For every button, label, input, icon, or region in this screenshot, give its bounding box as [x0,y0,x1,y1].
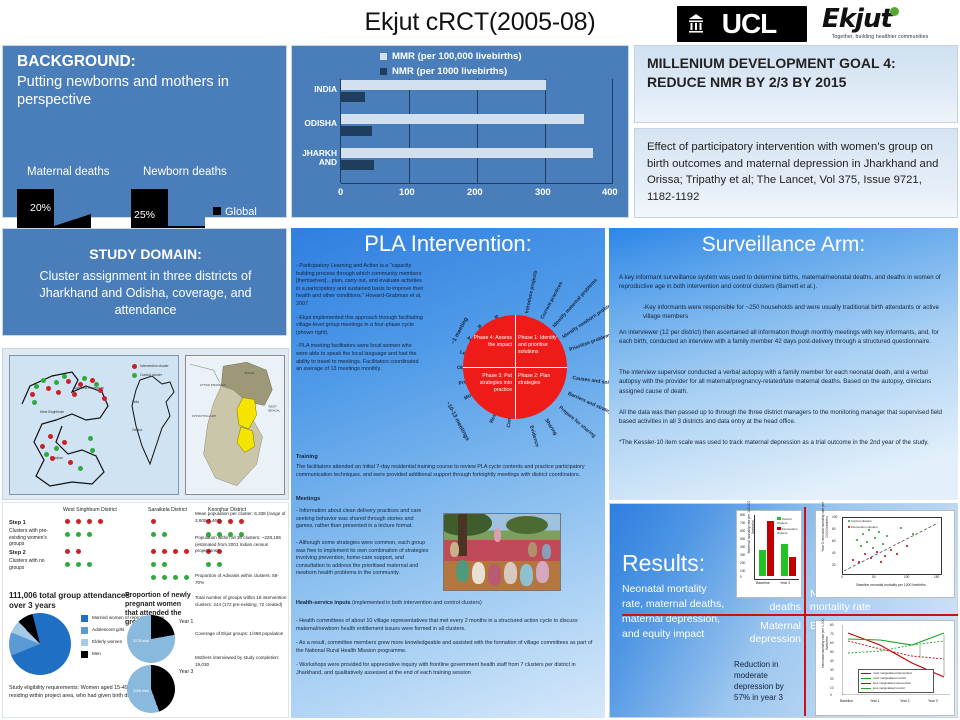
bar-nmr-jharkhand [341,160,374,170]
study-domain-heading: STUDY DOMAIN: [3,246,288,262]
mini-bar-ytick-300: 300 [740,553,745,557]
legend-swatch-nmr [380,68,387,75]
ucl-logo-text: UCL [677,6,807,42]
equity-ytick-20: 20 [830,677,834,681]
bar-year3-control [781,544,788,576]
pla-phase-2: Phase 2: Plan strategies [518,373,564,387]
newborn-deaths-pie-label: Newborn deaths [143,166,227,178]
results-panel: Results: Neonatal mortality rate, matern… [609,503,958,718]
map-legend-intervention: Intervention cluster [140,364,169,368]
bar-cat-india: INDIA [293,85,337,94]
equity-ytick-50: 50 [830,650,834,654]
map-legend-control: Control cluster [140,373,162,377]
pla-meetings-item-1: - Information about clean delivery pract… [296,508,431,531]
india-inset-outline [128,372,178,472]
equity-ytick-10: 10 [830,686,834,690]
mini-bar-ytick-400: 400 [740,545,745,549]
bar-mmr-odisha [341,114,584,124]
pla-training-heading: Training [296,454,318,460]
step-2-desc: Clusters with no groups [9,558,61,571]
mini-bar-ytick-500: 500 [740,537,745,541]
pla-paragraph-2: - Ekjut implemented this approach throug… [296,315,424,338]
pla-phase-4: Phase 4: Assess the impact [466,335,512,349]
scatter-ytick-20: 20 [832,563,836,567]
equity-ytick-70: 70 [830,632,834,636]
equity-xtick-year3: Year 3 [928,699,938,703]
scatter-xtick-100: 100 [904,575,909,579]
bar-nmr-odisha [341,126,372,136]
surveillance-paragraph-3: An interviewer (12 per district) then as… [619,328,949,347]
maternal-deaths-bar-chart: Maternal mortality rate per 100,000 live… [736,510,802,598]
cluster-stat-0: Mean population per cluster: 6,338 (rang… [195,511,287,524]
mini-bar-ytick-200: 200 [740,561,745,565]
pie-legend-adolescent-girls: Adolescent girls [92,627,124,633]
pla-hs-heading-bold: Health-service inputs [296,600,351,606]
citation-text: Effect of participatory intervention wit… [647,139,949,205]
bar-nmr-india [341,92,365,102]
mini-bar-ytick-600: 600 [740,529,745,533]
maternal-deaths-pie-label: Maternal deaths [27,166,109,178]
ekjut-leaf-icon [890,7,899,16]
mdg-panel: MILLENIUM DEVELOPMENT GOAL 4: REDUCE NMR… [634,45,958,123]
inset-label-india: India [132,400,139,404]
results-horizontal-divider [622,614,958,616]
mdg-text: MILLENIUM DEVELOPMENT GOAL 4: REDUCE NMR… [647,54,947,92]
attendance-heading: 111,006 total group attendances over 3 y… [9,591,134,611]
col-header-west-singhbum: West Singhbum District [63,507,117,513]
spoke-0: Introduce projects [524,270,539,314]
bar-chart-legend: MMR (per 100,000 livebirths) NMR (per 10… [380,51,522,81]
pla-phase-circle: Phase 4: Assess the impact Phase 1: Iden… [463,315,567,419]
maternal-deaths-pie-value: 20% [30,202,51,214]
legend-label-nmr: NMR (per 1000 livebirths) [392,66,507,77]
bar-cat-odisha: ODISHA [293,119,337,128]
inset-label-odisha: Odisha [132,428,142,432]
bar-mmr-jharkhand [341,148,593,158]
pla-hs-item-1: - Health committees of about 10 village … [296,618,596,633]
scatter-xtick-0: 0 [841,575,843,579]
spoke-8: Sharing [543,418,558,437]
svg-text:BIHAR: BIHAR [245,371,255,375]
spoke-7: Prepare for sharing [558,405,597,439]
cluster-district-map: India Odisha West Singhbhum Saraikela Kh… [9,355,179,495]
pla-cycle-wheel: Introduce projects Current practices Ide… [431,283,599,451]
pla-phase-3: Phase 3: Put strategies into practice [466,373,512,394]
xtick-0: 0 [338,186,343,197]
study-domain-panel: STUDY DOMAIN: Cluster assignment in thre… [2,228,287,336]
equity-legend-2: less marginalised intervention [873,681,911,685]
equity-legend-1: most marginalised control [873,676,906,680]
mini-bar-ytick-0: 0 [740,575,742,579]
scatter-ytick-60: 60 [832,539,836,543]
equity-ytick-0: 0 [830,693,832,697]
spoke-4: Prioritise problems [568,332,613,353]
surveillance-arm-panel: Surveillance Arm: A key informant survei… [609,228,958,500]
pla-training-text: The facilitators attended an initial 7-d… [296,464,596,479]
equity-legend-0: most marginalised intervention [873,671,912,675]
svg-text:UTTAR PRADESH: UTTAR PRADESH [200,383,226,387]
ekjut-logo-word: Ekjut [822,4,938,34]
pla-hs-item-2: - As a result, committee members grew mo… [296,640,596,655]
mini-bar-ylabel: Maternal mortality rate per 100,000 live… [747,498,755,556]
pie-legend-men: Men [92,651,101,657]
scatter-ytick-40: 40 [832,551,836,555]
scatter-legend-control: Control clusters [851,519,872,523]
bar-baseline-control [759,550,766,576]
legend-label-global: Global [225,206,257,218]
step-1-title: Step 1 [9,520,26,526]
equity-ylabel: Neonatal mortality rate per 1,000 livebi… [821,612,829,674]
attendance-pie-chart [9,613,71,675]
meeting-label-3: ~10-13 meetings [444,401,470,442]
equity-legend-3: less marginalised control [873,686,905,690]
pregnant-pie-year3-value: 3126 total [133,689,149,693]
ekjut-logo-tagline: Together, building healthier communities [820,34,940,40]
cluster-stat-1: Population within all 36 clusters: ~228,… [195,535,287,555]
pla-phase-1: Phase 1: Identify and prioritise solutio… [518,335,564,356]
bar-chart-plot-area: INDIA ODISHA JHARKHAND 0 100 200 300 400 [340,79,613,183]
mini-bar-legend-intervention: Intervention clusters [777,527,798,535]
page-title: Ekjut cRCT(2005-08) [280,2,680,42]
spoke-9: Evidence [528,425,540,448]
scatter-xtick-150: 150 [934,575,939,579]
equity-xtick-year2: Year 2 [900,699,910,703]
pla-body-column: - Participatory Learning and Action is a… [296,263,424,380]
xtick-100: 100 [399,186,415,197]
step-2-title: Step 2 [9,550,26,556]
pla-intervention-panel: PLA Intervention: - Participatory Learni… [291,228,605,718]
legend-label-mmr: MMR (per 100,000 livebirths) [392,51,522,62]
col-header-saraikela: Saraikela District [148,507,187,513]
pregnant-pie-year1-value: 3178 total [133,639,149,643]
legend-swatch-global [213,207,221,215]
equity-ytick-80: 80 [830,623,834,627]
mini-bar-ytick-800: 800 [740,513,745,517]
pla-health-service-heading: Health-service inputs (implemented in bo… [296,600,596,606]
ekjut-logo: Ekjut Together, building healthier commu… [820,4,940,46]
pregnant-pie-year3-label: Year 3 [179,669,193,675]
pie-legend-elderly-women: Elderly women [92,639,122,645]
pla-hs-item-3: - Workshops were provided for appreciati… [296,662,596,677]
xtick-400: 400 [602,186,618,197]
pla-heading: PLA Intervention: [291,231,605,257]
results-subtext: Neonatal mortality rate, maternal deaths… [622,582,726,642]
quadrant-label-maternal-depression: Maternal depression [728,620,801,646]
scatter-ytick-100: 100 [832,515,837,519]
ucl-logo: UCL [677,6,807,42]
results-vertical-divider [804,507,806,716]
cluster-assignment-panel: West Singhbum District Saraikela Distric… [2,502,289,718]
bar-year3-intervention [789,557,796,576]
depression-result-text: Reduction in moderate depression by 57% … [734,659,800,703]
pla-paragraph-1: - Participatory Learning and Action is a… [296,263,424,309]
equity-xtick-year1: Year 1 [870,699,880,703]
state-map-shapes: UTTAR PRADESH BIHAR WEST BENGAL CHHATTIS… [186,356,284,494]
background-subheading: Putting newborns and mothers in perspect… [17,73,279,109]
mini-bar-ytick-100: 100 [740,569,745,573]
cluster-stat-5: Mothers interviewed by study completion:… [195,655,287,668]
equity-legend: most marginalised intervention most marg… [858,669,934,693]
jharkhand-odisha-state-map: UTTAR PRADESH BIHAR WEST BENGAL CHHATTIS… [185,355,285,495]
scatter-ylabel: Year 3 neonatal mortality rate per 1000 … [821,502,829,552]
equity-ytick-60: 60 [830,641,834,645]
study-domain-text: Cluster assignment in three districts of… [17,268,274,319]
scatter-xlabel: Baseline neonatal mortality per 1000 liv… [842,583,940,587]
surveillance-paragraph-5: All the data was then passed up to throu… [619,408,949,427]
legend-swatch-mmr [380,53,387,60]
pregnant-pie-year1-label: Year 1 [179,619,193,625]
pla-paragraph-3: - PLA meeting facilitators were local wo… [296,343,424,373]
background-panel: BACKGROUND: Putting newborns and mothers… [2,45,287,218]
surveillance-paragraph-4: The interview supervisor conducted a ver… [619,368,949,396]
xtick-200: 200 [467,186,483,197]
scatter-legend-intervention: Intervention clusters [851,525,878,529]
newborn-deaths-pie-value: 25% [134,209,155,221]
bar-cat-jharkhand: JHARKHAND [293,149,337,167]
equity-xtick-baseline: Baseline [840,699,853,703]
cluster-stat-3: Total number of groups within 18 interve… [195,595,287,608]
surveillance-paragraph-1: A key informant surveillance system was … [619,273,949,292]
surveillance-paragraph-2: -Key informants were responsible for ~25… [643,303,949,322]
neonatal-mortality-scatter-chart: 100 80 60 40 20 0 50 100 150 Year 3 neon… [815,510,955,598]
mini-bar-xtick-baseline: Baseline [756,581,770,585]
equity-ytick-40: 40 [830,659,834,663]
scatter-ytick-80: 80 [832,527,836,531]
surveillance-heading: Surveillance Arm: [609,233,958,257]
district-outline [16,364,132,490]
district-label-west-singhbhum: West Singhbhum [40,410,64,414]
scatter-xtick-50: 50 [872,575,876,579]
citation-panel: Effect of participatory intervention wit… [634,128,958,218]
results-heading: Results: [622,550,705,577]
svg-text:BENGAL: BENGAL [268,408,280,412]
mini-bar-ytick-700: 700 [740,521,745,525]
mini-bar-xtick-year3: Year 3 [780,581,790,585]
pla-hs-heading-note: (implemented in both intervention and co… [351,600,482,606]
step-1-desc: Clusters with pre-existing women's group… [9,528,61,548]
equity-impact-line-chart: Neonatal mortality rate per 1,000 livebi… [815,620,955,716]
mmr-nmr-bar-chart-panel: MMR (per 100,000 livebirths) NMR (per 10… [291,45,629,218]
cluster-stat-4: Coverage of Ekjut groups: 1/468 populati… [195,631,287,638]
svg-text:CHHATTISGARH: CHHATTISGARH [192,414,216,418]
background-heading: BACKGROUND: [17,53,136,71]
bar-mmr-india [341,80,546,90]
surveillance-paragraph-6: *The Kessler-10 item scale was used to t… [619,438,949,447]
pla-meetings-item-2: - Although some strategies were common, … [296,540,431,578]
womens-group-meeting-photo [443,513,561,591]
maps-panel: India Odisha West Singhbhum Saraikela Kh… [2,348,289,500]
equity-ytick-30: 30 [830,668,834,672]
xtick-300: 300 [535,186,551,197]
pla-meetings-heading: Meetings [296,496,320,502]
cluster-stat-2: Proportion of Adivasis within clusters: … [195,573,287,586]
bar-baseline-intervention [767,521,774,576]
